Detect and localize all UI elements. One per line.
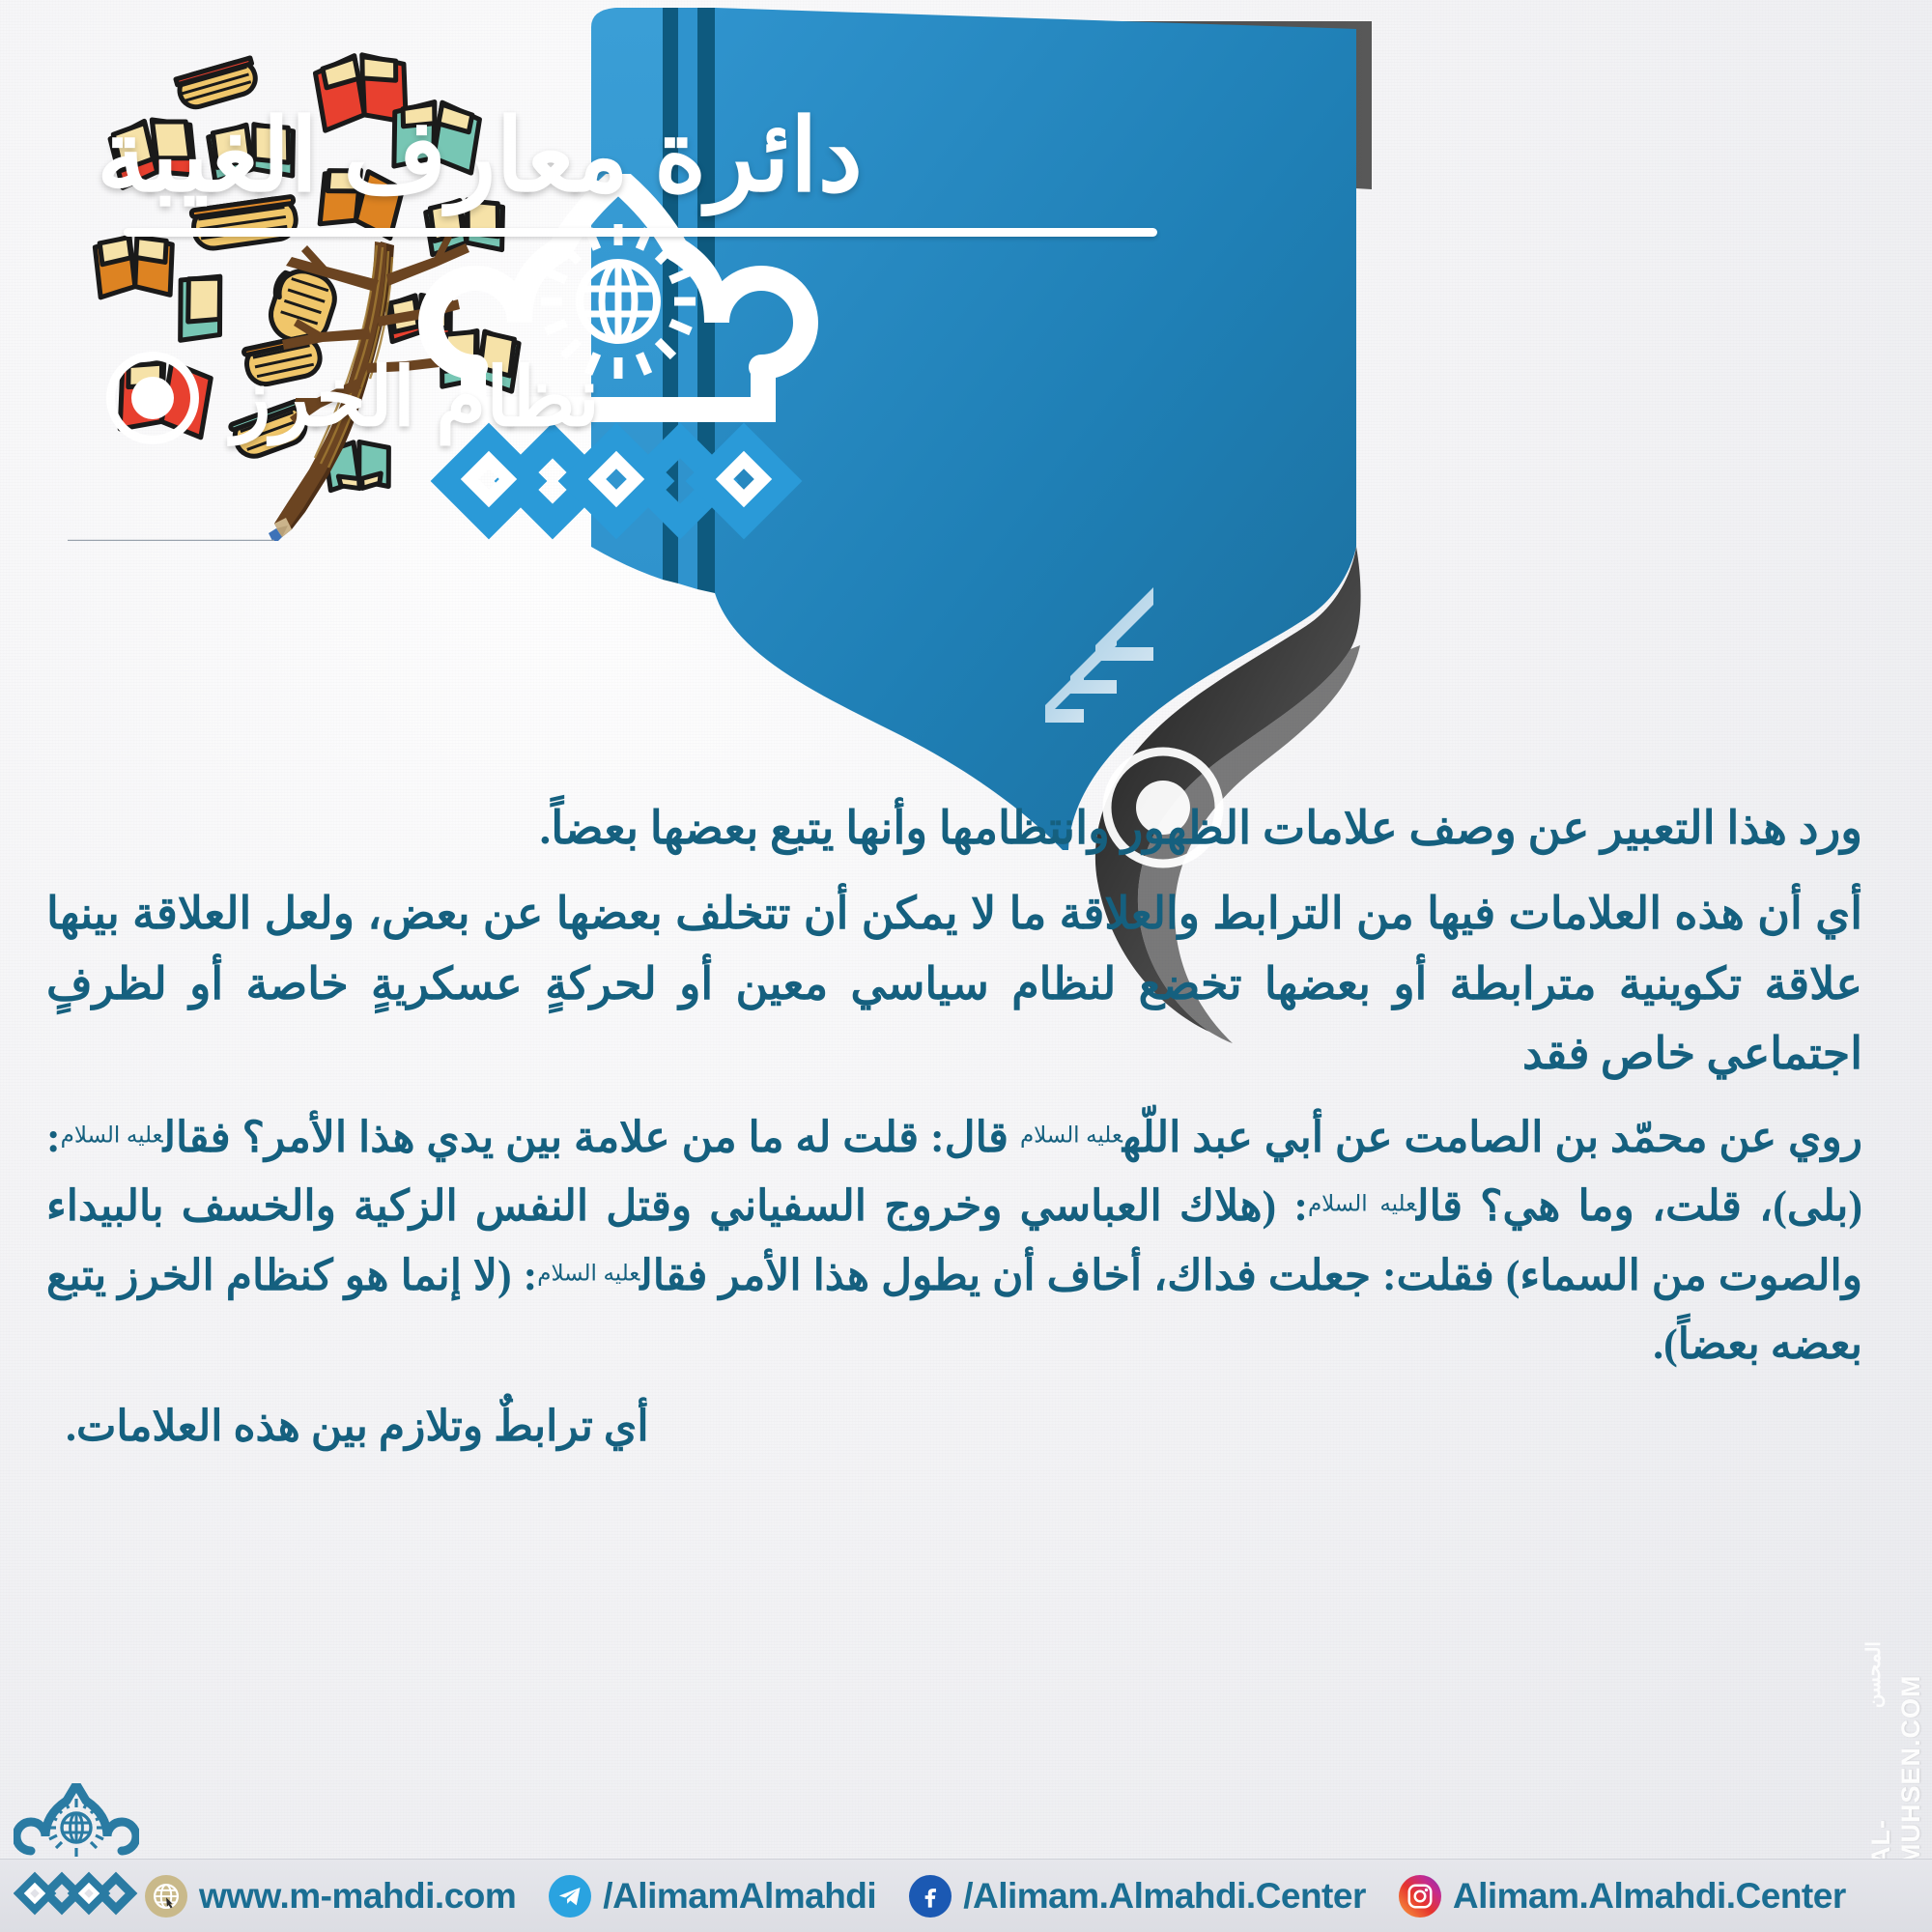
honorific-4: عليه السلام bbox=[537, 1261, 639, 1285]
footer-item-website[interactable]: www.m-mahdi.com bbox=[145, 1875, 516, 1918]
telegram-icon bbox=[549, 1875, 591, 1918]
honorific-3: عليه السلام bbox=[1308, 1192, 1416, 1216]
honorific-2: عليه السلام bbox=[61, 1123, 163, 1148]
paragraph-1: ورد هذا التعبير عن وصف علامات الظهور وان… bbox=[46, 792, 1862, 866]
footer-item-instagram[interactable]: Alimam.Almahdi.Center bbox=[1399, 1875, 1846, 1918]
center-emblem-icon bbox=[14, 1781, 139, 1926]
arrows-icon bbox=[1045, 587, 1153, 723]
paragraph-2: أي أن هذه العلامات فيها من الترابط والعل… bbox=[46, 879, 1862, 1090]
page-subtitle: نظام الخرز bbox=[232, 350, 600, 445]
paragraph-3: روي عن محمّد بن الصامت عن أبي عبد اللّهع… bbox=[46, 1103, 1862, 1378]
hadith-chain: روي عن محمّد بن الصامت عن أبي عبد اللّه bbox=[1122, 1114, 1862, 1161]
paragraph-conclusion: أي ترابطٌ وتلازم بين هذه العلامات. bbox=[46, 1392, 1862, 1461]
instagram-icon bbox=[1399, 1875, 1441, 1918]
ring-bullet-icon bbox=[106, 352, 199, 444]
hadith-q: قال: قلت له ما من علامة بين يدي هذا الأم… bbox=[163, 1114, 1009, 1161]
page-subtitle-row: نظام الخرز bbox=[106, 350, 1198, 445]
footer-bar: www.m-mahdi.com /AlimamAlmahdi /Alimam.A… bbox=[0, 1859, 1932, 1932]
facebook-icon bbox=[909, 1875, 952, 1918]
footer-label-website: www.m-mahdi.com bbox=[199, 1876, 516, 1917]
footer-item-telegram[interactable]: /AlimamAlmahdi bbox=[549, 1875, 876, 1918]
honorific-1: عليه السلام bbox=[1020, 1123, 1122, 1148]
title-underline bbox=[124, 228, 1157, 237]
footer-item-facebook[interactable]: /Alimam.Almahdi.Center bbox=[909, 1875, 1366, 1918]
page-title: دائرة معارف الغيبة bbox=[97, 104, 1198, 210]
footer-label-telegram: /AlimamAlmahdi bbox=[603, 1876, 876, 1917]
article-body: ورد هذا التعبير عن وصف علامات الظهور وان… bbox=[46, 792, 1862, 1474]
globe-icon bbox=[145, 1875, 187, 1918]
watermark-arabic: المحسن bbox=[1862, 1641, 1886, 1708]
footer-label-instagram: Alimam.Almahdi.Center bbox=[1453, 1876, 1846, 1917]
footer-label-facebook: /Alimam.Almahdi.Center bbox=[963, 1876, 1366, 1917]
poster-root: دائرة معارف الغيبة نظام الخرز ورد هذا ال… bbox=[0, 0, 1932, 1932]
